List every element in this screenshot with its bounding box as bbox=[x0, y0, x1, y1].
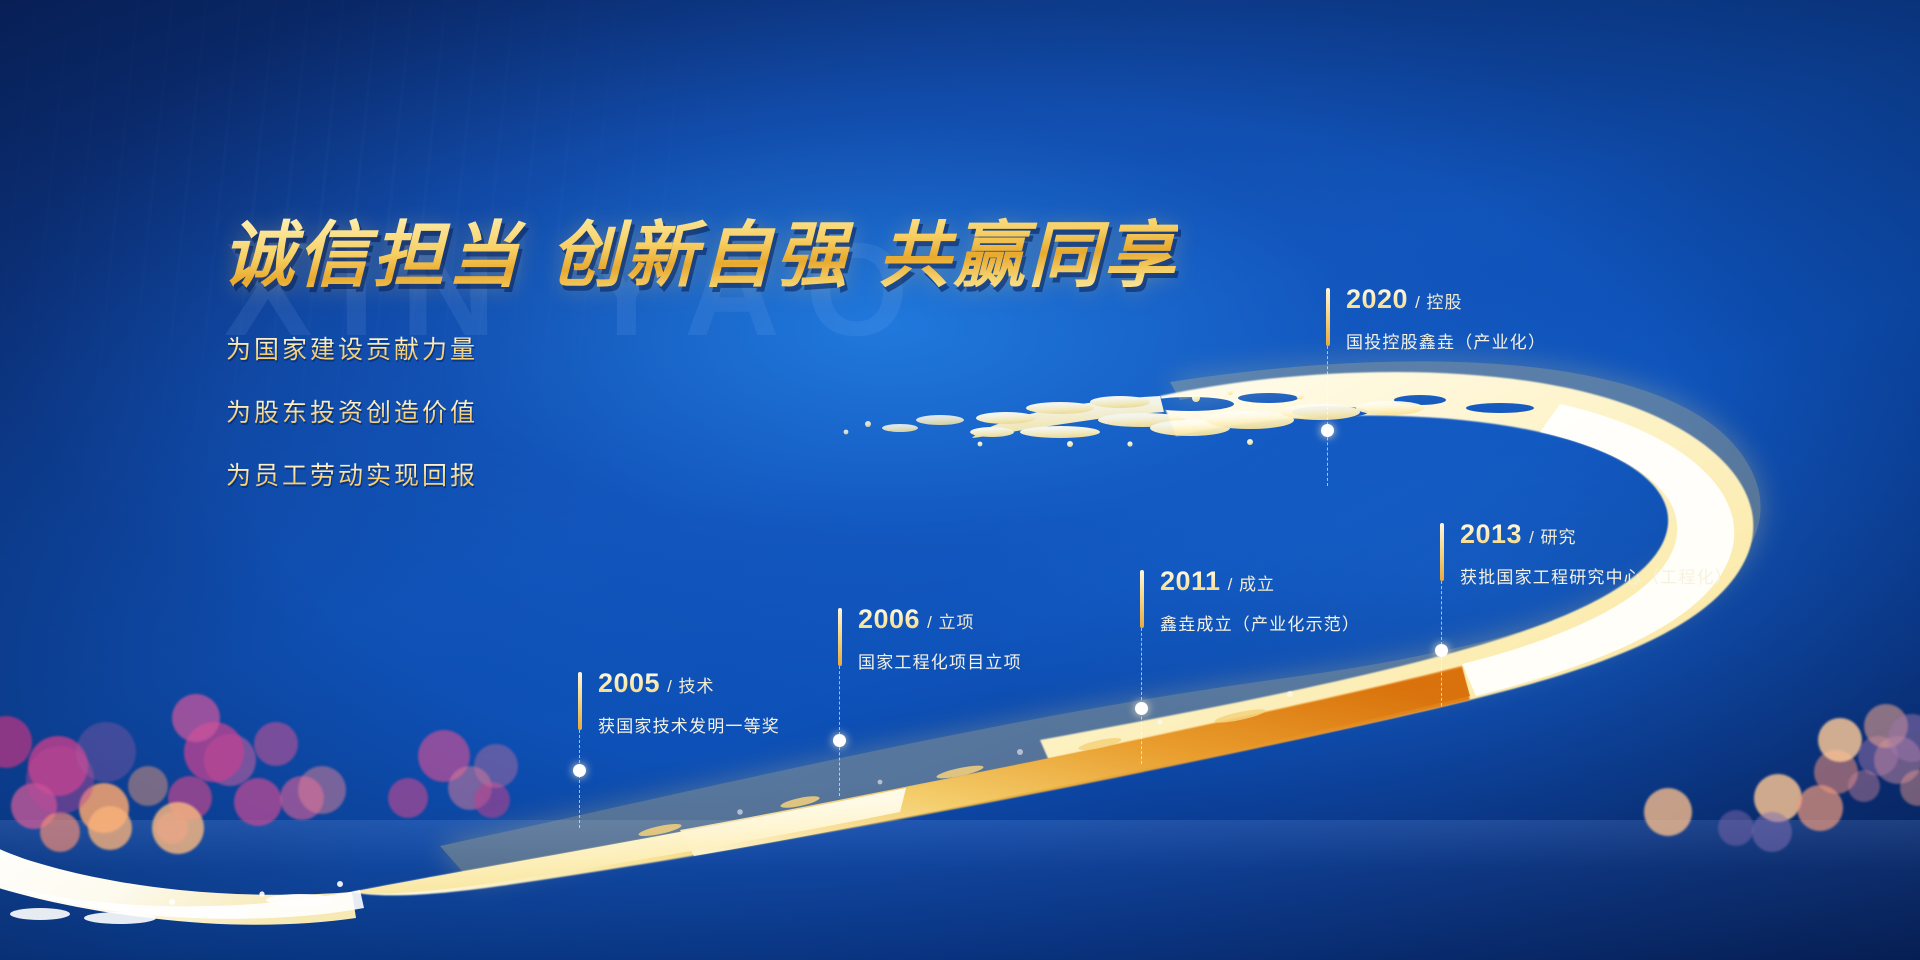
timeline-connector-line bbox=[839, 666, 840, 796]
timeline-description: 鑫垚成立（产业化示范） bbox=[1160, 610, 1360, 635]
timeline-connector-line bbox=[579, 730, 580, 828]
timeline-description: 获批国家工程研究中心（工程化） bbox=[1460, 563, 1733, 588]
timeline-heading: 2005/ 技术 bbox=[598, 668, 780, 699]
bokeh-circle-right bbox=[1752, 812, 1792, 852]
timeline-node-dot[interactable] bbox=[833, 734, 846, 747]
timeline-text-block: 2013/ 研究获批国家工程研究中心（工程化） bbox=[1460, 519, 1733, 588]
bokeh-circle-right bbox=[1644, 788, 1692, 836]
bokeh-circle-left bbox=[88, 806, 132, 850]
timeline-marker-bar bbox=[1140, 570, 1144, 628]
timeline-connector-line bbox=[1327, 346, 1328, 486]
timeline-heading: 2011/ 成立 bbox=[1160, 566, 1360, 597]
timeline-marker-bar bbox=[1326, 288, 1330, 346]
timeline-text-block: 2011/ 成立鑫垚成立（产业化示范） bbox=[1160, 566, 1360, 635]
bokeh-circle-left bbox=[76, 722, 136, 782]
timeline-category: / 控股 bbox=[1415, 293, 1462, 312]
bokeh-circle-right bbox=[1718, 810, 1754, 846]
timeline-year: 2005 bbox=[598, 668, 660, 698]
slogan-list: 为国家建设贡献力量 为股东投资创造价值 为员工劳动实现回报 bbox=[226, 330, 478, 519]
timeline-year: 2013 bbox=[1460, 519, 1522, 549]
timeline-year: 2011 bbox=[1160, 566, 1221, 596]
bokeh-circle-left bbox=[474, 744, 518, 788]
slogan-line: 为员工劳动实现回报 bbox=[226, 456, 478, 492]
timeline-category: / 研究 bbox=[1529, 528, 1576, 547]
bokeh-circle-left bbox=[298, 766, 346, 814]
timeline-marker-bar bbox=[838, 608, 842, 666]
timeline-category: / 成立 bbox=[1228, 575, 1275, 594]
timeline-heading: 2020/ 控股 bbox=[1346, 284, 1546, 315]
slogan-line: 为股东投资创造价值 bbox=[226, 393, 478, 429]
bokeh-circle-left bbox=[234, 778, 282, 826]
bokeh-circle-right bbox=[1797, 785, 1843, 831]
slogan-line: 为国家建设贡献力量 bbox=[226, 330, 478, 366]
timeline-node-dot[interactable] bbox=[1135, 702, 1148, 715]
bokeh-circle-left bbox=[388, 778, 428, 818]
timeline-marker-bar bbox=[1440, 523, 1444, 581]
timeline-year: 2006 bbox=[858, 604, 920, 634]
bokeh-circle-left bbox=[152, 802, 204, 854]
bokeh-circle-left bbox=[254, 722, 298, 766]
timeline-description: 获国家技术发明一等奖 bbox=[598, 712, 780, 737]
bokeh-circle-left bbox=[172, 694, 220, 742]
timeline-year: 2020 bbox=[1346, 284, 1408, 314]
page-title: 诚信担当 创新自强 共赢同享 bbox=[222, 196, 1178, 301]
timeline-marker-bar bbox=[578, 672, 582, 730]
timeline-description: 国投控股鑫垚（产业化） bbox=[1346, 328, 1546, 353]
timeline-text-block: 2005/ 技术获国家技术发明一等奖 bbox=[598, 668, 780, 737]
timeline-heading: 2013/ 研究 bbox=[1460, 519, 1733, 550]
bokeh-circle-right bbox=[1848, 770, 1880, 802]
timeline-connector-line bbox=[1141, 628, 1142, 764]
timeline-node-dot[interactable] bbox=[573, 764, 586, 777]
timeline-node-dot[interactable] bbox=[1321, 424, 1334, 437]
banner-canvas: XIN YAO bbox=[0, 0, 1920, 960]
timeline-heading: 2006/ 立项 bbox=[858, 604, 1022, 635]
timeline-text-block: 2020/ 控股国投控股鑫垚（产业化） bbox=[1346, 284, 1546, 353]
bokeh-circle-left bbox=[40, 812, 80, 852]
bokeh-circle-left bbox=[128, 766, 168, 806]
timeline-text-block: 2006/ 立项国家工程化项目立项 bbox=[858, 604, 1022, 673]
timeline-category: / 立项 bbox=[927, 613, 974, 632]
bokeh-circle-right bbox=[1818, 718, 1862, 762]
timeline-category: / 技术 bbox=[667, 677, 714, 696]
timeline-node-dot[interactable] bbox=[1435, 644, 1448, 657]
timeline-description: 国家工程化项目立项 bbox=[858, 648, 1022, 673]
